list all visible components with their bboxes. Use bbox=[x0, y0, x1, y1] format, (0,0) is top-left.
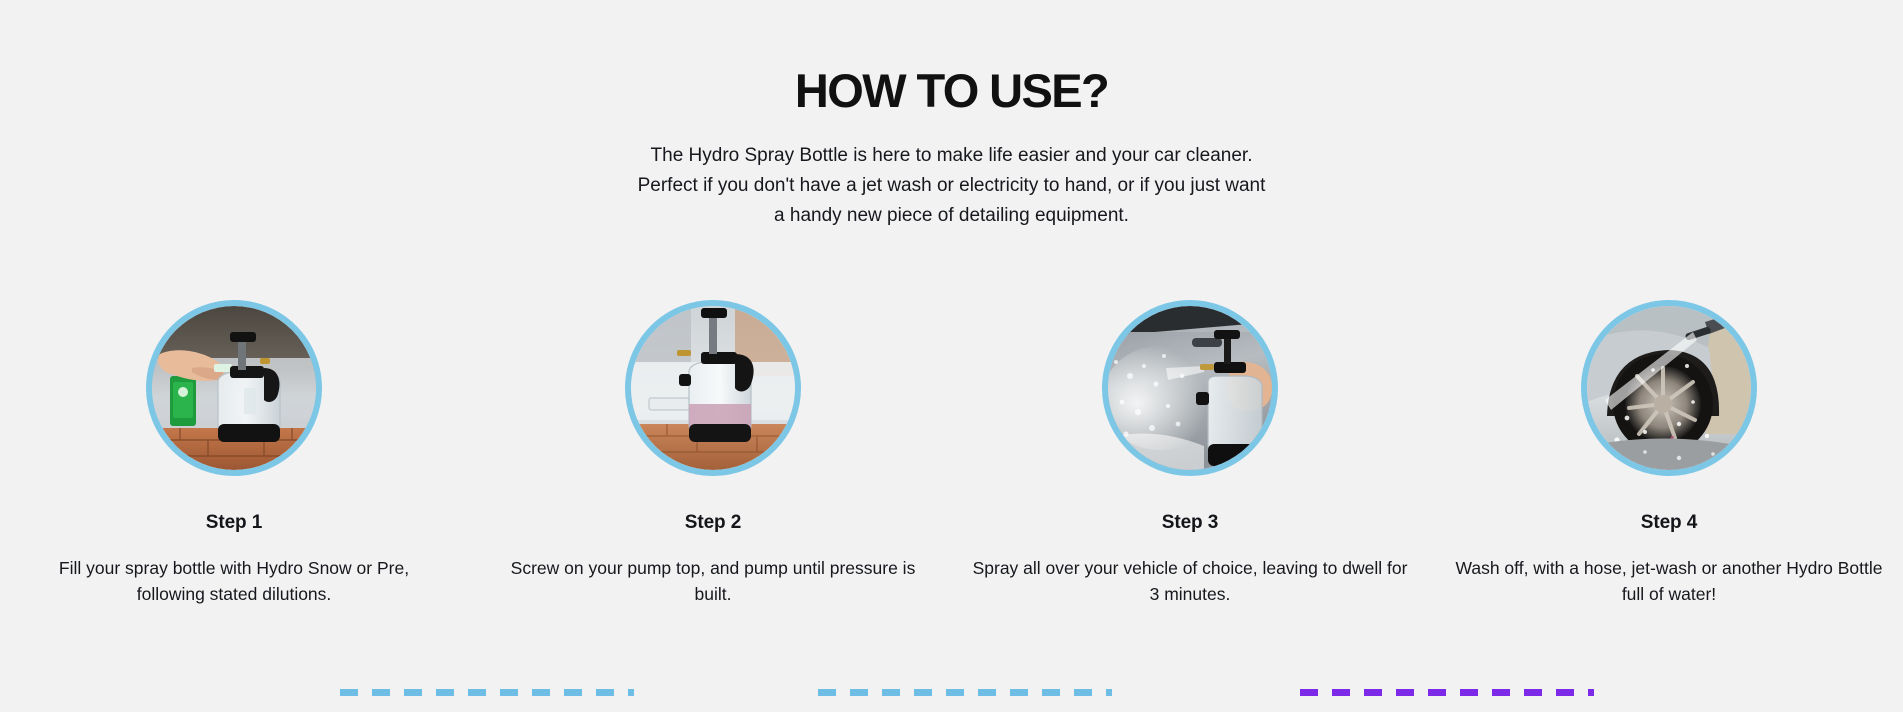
intro-line-1: The Hydro Spray Bottle is here to make l… bbox=[0, 141, 1903, 171]
step-item: Step 4 Wash off, with a hose, jet-wash o… bbox=[1434, 300, 1903, 607]
step-item: Step 1 Fill your spray bottle with Hydro… bbox=[0, 300, 469, 607]
connector-dashes bbox=[340, 689, 634, 696]
spraying-foam-on-car-photo bbox=[1108, 306, 1272, 470]
intro-line-2: Perfect if you don't have a jet wash or … bbox=[0, 171, 1903, 201]
steps-row: Step 1 Fill your spray bottle with Hydro… bbox=[0, 300, 1903, 590]
step-label: Step 2 bbox=[478, 512, 948, 534]
step-description: Fill your spray bottle with Hydro Snow o… bbox=[0, 555, 469, 607]
step-label: Step 3 bbox=[955, 512, 1425, 534]
connector-dashes bbox=[1300, 689, 1594, 696]
step-label: Step 1 bbox=[0, 512, 469, 534]
step-image-circle bbox=[1581, 300, 1757, 476]
intro-line-3: a handy new piece of detailing equipment… bbox=[0, 201, 1903, 231]
step-image-circle bbox=[625, 300, 801, 476]
step-image-circle bbox=[146, 300, 322, 476]
section-header: HOW TO USE? The Hydro Spray Bottle is he… bbox=[0, 0, 1903, 231]
step-description: Screw on your pump top, and pump until p… bbox=[478, 555, 948, 607]
step-description: Spray all over your vehicle of choice, l… bbox=[955, 555, 1425, 607]
step-item: Step 3 Spray all over your vehicle of ch… bbox=[955, 300, 1425, 607]
connector-dashes bbox=[818, 689, 1112, 696]
connector-step2-step3 bbox=[818, 689, 1112, 696]
page-title: HOW TO USE? bbox=[0, 66, 1903, 117]
pump-sprayer-on-brick-photo bbox=[631, 306, 795, 470]
step-description: Wash off, with a hose, jet-wash or anoth… bbox=[1434, 555, 1903, 607]
intro-paragraph: The Hydro Spray Bottle is here to make l… bbox=[0, 141, 1903, 231]
connector-step1-step2 bbox=[340, 689, 634, 696]
step-item: Step 2 Screw on your pump top, and pump … bbox=[478, 300, 948, 607]
how-to-use-section: HOW TO USE? The Hydro Spray Bottle is he… bbox=[0, 0, 1903, 712]
step-label: Step 4 bbox=[1434, 512, 1903, 534]
connector-step3-step4 bbox=[1300, 689, 1594, 696]
hand-pouring-bottle-photo bbox=[152, 306, 316, 470]
jet-washing-wheel-photo bbox=[1587, 306, 1751, 470]
step-image-circle bbox=[1102, 300, 1278, 476]
connectors-layer bbox=[0, 689, 1903, 696]
